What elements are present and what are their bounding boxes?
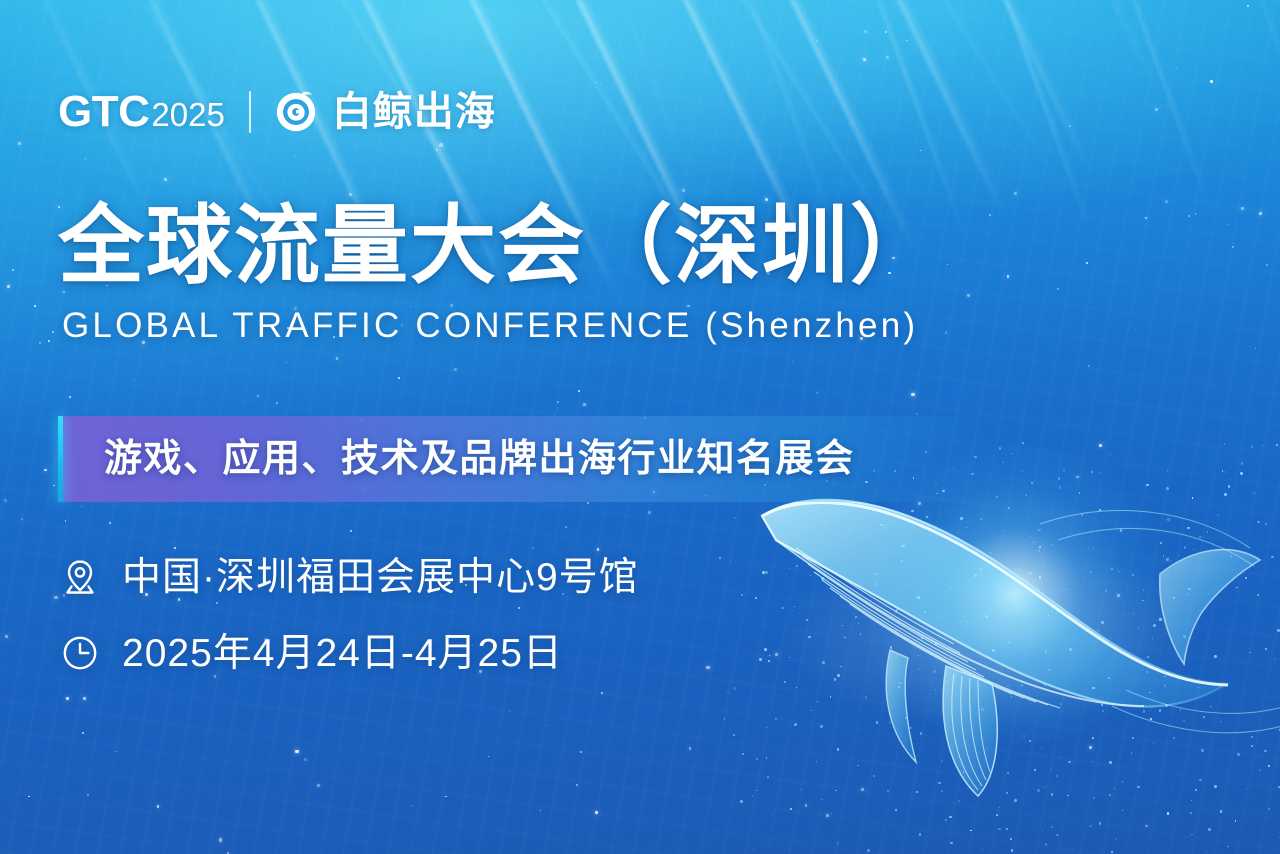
date-label: 2025年4月24日-4月25日 [122,634,563,673]
tagline-label: 游戏、应用、技术及品牌出海行业知名展会 [104,440,855,478]
whale-artwork [740,444,1280,854]
gtc-logo-code: GTC [58,90,149,134]
brand-logo: 白鲸出海 [273,89,496,135]
location-pin-icon [60,557,100,597]
headline-block: 全球流量大会（深圳） GLOBAL TRAFFIC CONFERENCE (Sh… [58,200,1068,345]
logo-divider [249,91,251,133]
tagline-banner: 游戏、应用、技术及品牌出海行业知名展会 [58,416,990,502]
venue-label: 中国·深圳福田会展中心9号馆 [122,558,639,597]
conference-poster: GTC 2025 白鲸出海 全球流量大会（深圳） GLOBAL TRAFFIC … [0,0,1280,854]
venue-row: 中国·深圳福田会展中心9号馆 [60,548,639,606]
page-subtitle-english: GLOBAL TRAFFIC CONFERENCE (Shenzhen) [62,307,1068,346]
clock-icon [60,633,100,673]
logo-row: GTC 2025 白鲸出海 [58,84,496,140]
gtc-logo-year: 2025 [151,98,224,131]
whale-g-logo-icon [273,89,319,135]
page-title: 全球流量大会（深圳） [58,200,1068,293]
whale-icon [740,444,1280,854]
brand-name-label: 白鲸出海 [332,92,496,132]
date-row: 2025年4月24日-4月25日 [60,624,639,682]
gtc-logo: GTC 2025 [58,90,225,134]
event-info-block: 中国·深圳福田会展中心9号馆 2025年4月24日-4月25日 [60,548,639,700]
